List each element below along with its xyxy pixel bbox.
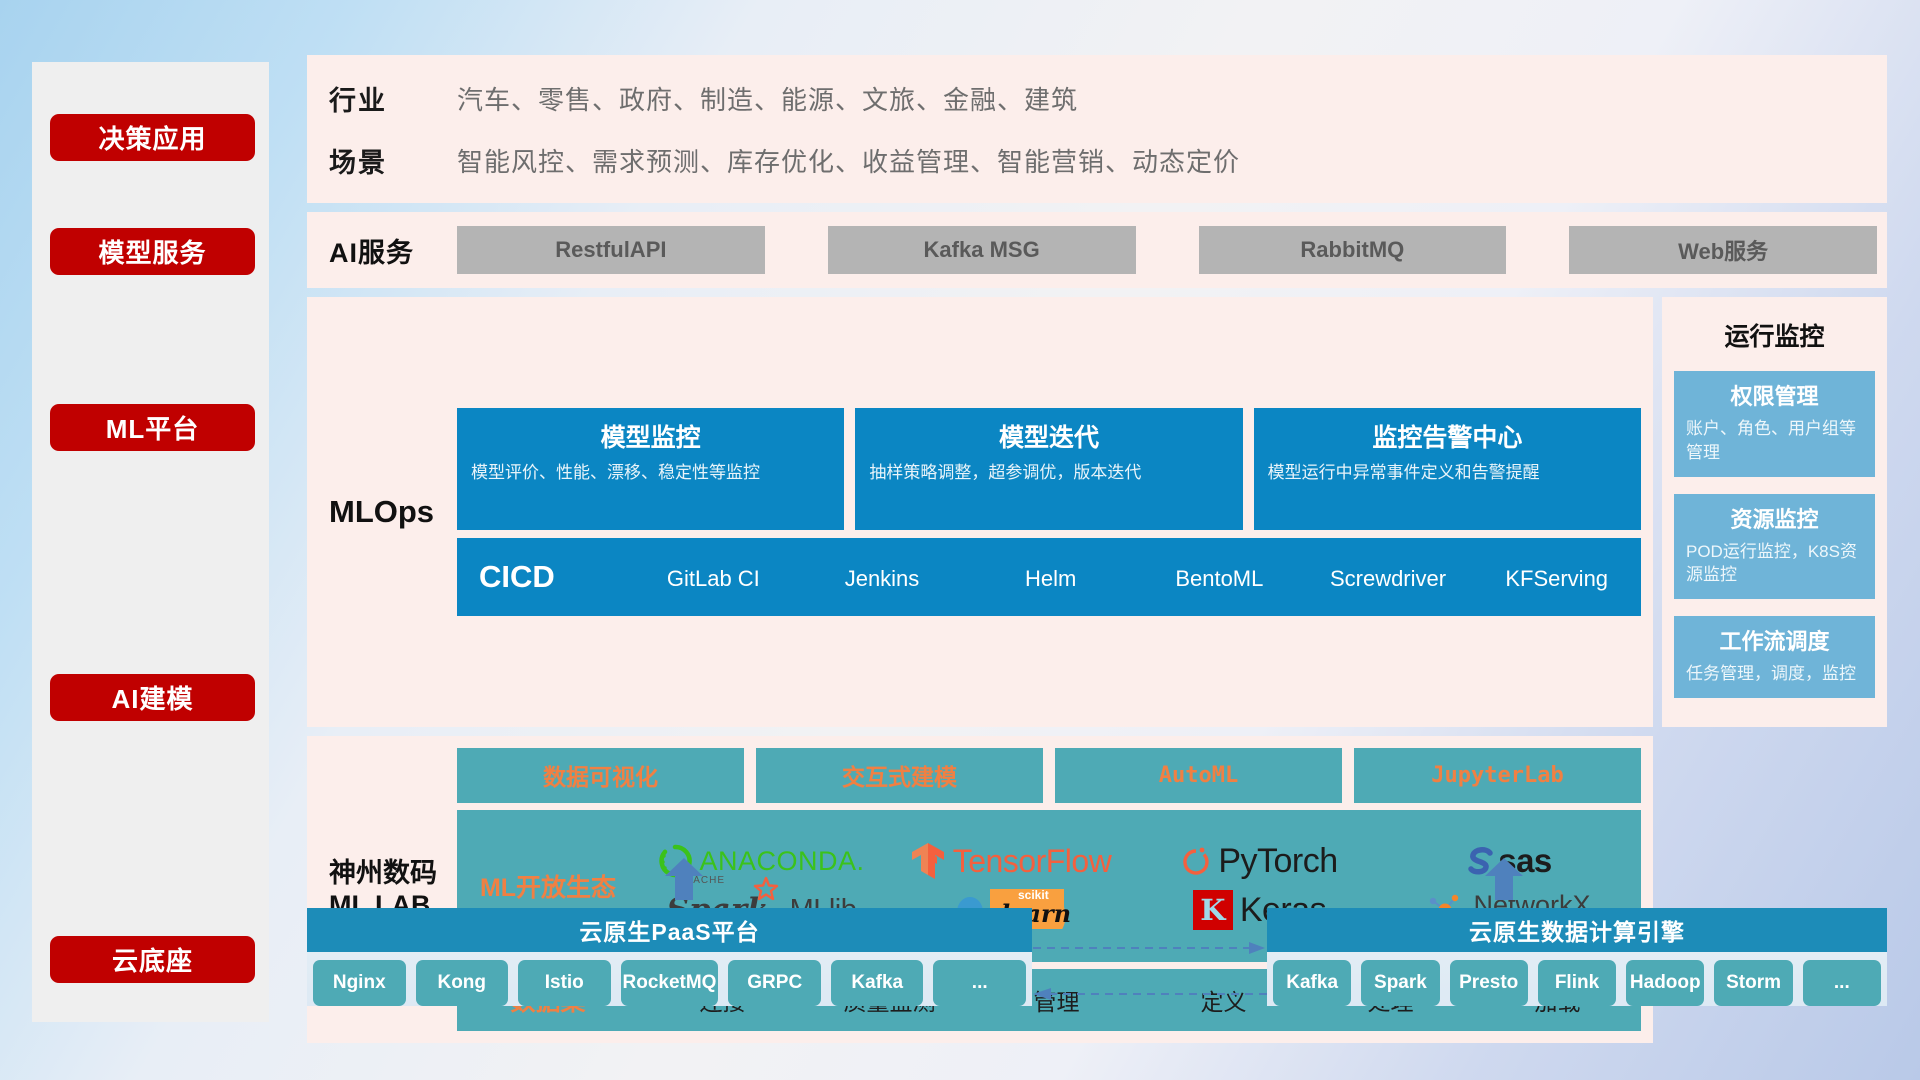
ai-service-label: AI服务 <box>329 231 457 270</box>
cloud-base-row: 云原生PaaS平台 Nginx Kong Istio RocketMQ GRPC… <box>307 880 1887 1030</box>
left-rail: 决策应用 模型服务 ML平台 AI建模 云底座 <box>32 62 269 1022</box>
card-desc: 模型运行中异常事件定义和告警提醒 <box>1268 461 1627 486</box>
pytorch-wordmark: PyTorch <box>1218 842 1337 881</box>
card-title: 资源监控 <box>1686 502 1863 534</box>
card-title: 工作流调度 <box>1686 624 1863 656</box>
scenario-row: 场景 智能风控、需求预测、库存优化、收益管理、智能营销、动态定价 <box>329 129 1240 191</box>
bidirectional-connector-icon <box>1033 938 1267 1006</box>
monitor-card-workflow[interactable]: 工作流调度 任务管理，调度，监控 <box>1674 616 1875 698</box>
cicd-item-bentoml[interactable]: BentoML <box>1135 566 1304 591</box>
tool-tab-interactive-modeling[interactable]: 交互式建模 <box>756 748 1043 803</box>
mlops-card-alert-center[interactable]: 监控告警中心 模型运行中异常事件定义和告警提醒 <box>1254 408 1641 530</box>
mlops-band: MLOps 模型监控 模型评价、性能、漂移、稳定性等监控 模型迭代 抽样策略调整… <box>307 297 1653 727</box>
tensorflow-wordmark: TensorFlow <box>953 843 1112 880</box>
rail-chip-label: 云底座 <box>112 941 193 978</box>
compute-engine-group: 云原生数据计算引擎 Kafka Spark Presto Flink Hadoo… <box>1267 908 1887 1006</box>
ai-service-box-restfulapi[interactable]: RestfulAPI <box>457 226 765 274</box>
mlops-card-model-monitoring[interactable]: 模型监控 模型评价、性能、漂移、稳定性等监控 <box>457 408 844 530</box>
compute-chip-spark[interactable]: Spark <box>1361 960 1439 1006</box>
paas-chip-nginx[interactable]: Nginx <box>313 960 406 1006</box>
compute-up-arrow-icon <box>1485 858 1523 900</box>
rail-chip-model-service[interactable]: 模型服务 <box>50 228 255 275</box>
card-title: 权限管理 <box>1686 379 1863 411</box>
compute-chip-flink[interactable]: Flink <box>1538 960 1616 1006</box>
card-desc: 抽样策略调整，超参调优，版本迭代 <box>869 461 1228 486</box>
paas-chip-list: Nginx Kong Istio RocketMQ GRPC Kafka ... <box>307 952 1032 1006</box>
card-desc: 任务管理，调度，监控 <box>1686 662 1863 686</box>
paas-chip-more[interactable]: ... <box>933 960 1026 1006</box>
cicd-item-screwdriver[interactable]: Screwdriver <box>1304 566 1473 591</box>
ai-service-box-kafka-msg[interactable]: Kafka MSG <box>828 226 1136 274</box>
industry-value: 汽车、零售、政府、制造、能源、文旅、金融、建筑 <box>457 80 1078 117</box>
paas-chip-grpc[interactable]: GRPC <box>728 960 821 1006</box>
rail-chip-label: 决策应用 <box>98 119 206 156</box>
ml-platform-row: MLOps 模型监控 模型评价、性能、漂移、稳定性等监控 模型迭代 抽样策略调整… <box>307 297 1887 727</box>
cicd-item-jenkins[interactable]: Jenkins <box>798 566 967 591</box>
compute-chip-presto[interactable]: Presto <box>1450 960 1528 1006</box>
card-title: 模型迭代 <box>869 418 1228 454</box>
runtime-monitor-column: 运行监控 权限管理 账户、角色、用户组等管理 资源监控 POD运行监控，K8S资… <box>1662 297 1887 727</box>
compute-engine-title: 云原生数据计算引擎 <box>1267 908 1887 952</box>
rail-chip-label: 模型服务 <box>98 233 206 270</box>
rail-chip-ml-platform[interactable]: ML平台 <box>50 404 255 451</box>
pytorch-mark-icon <box>1181 844 1211 878</box>
tool-tab-automl[interactable]: AutoML <box>1055 748 1342 803</box>
monitor-card-permission[interactable]: 权限管理 账户、角色、用户组等管理 <box>1674 371 1875 477</box>
card-desc: POD运行监控，K8S资源监控 <box>1686 540 1863 588</box>
compute-chip-more[interactable]: ... <box>1803 960 1881 1006</box>
tensorflow-logo: TensorFlow <box>910 841 1112 881</box>
card-title: 模型监控 <box>471 418 830 454</box>
tool-tab-data-visualization[interactable]: 数据可视化 <box>457 748 744 803</box>
mlops-card-model-iteration[interactable]: 模型迭代 抽样策略调整，超参调优，版本迭代 <box>855 408 1242 530</box>
rail-chip-ai-modeling[interactable]: AI建模 <box>50 674 255 721</box>
industry-row: 行业 汽车、零售、政府、制造、能源、文旅、金融、建筑 <box>329 67 1240 129</box>
paas-chip-kong[interactable]: Kong <box>416 960 509 1006</box>
pytorch-logo: PyTorch <box>1181 842 1337 881</box>
ai-service-box-web[interactable]: Web服务 <box>1569 226 1877 274</box>
rail-chip-label: ML平台 <box>106 409 200 446</box>
cicd-bar: CICD GitLab CI Jenkins Helm BentoML Scre… <box>457 538 1641 616</box>
ai-service-box-list: RestfulAPI Kafka MSG RabbitMQ Web服务 <box>457 226 1887 274</box>
scenario-value: 智能风控、需求预测、库存优化、收益管理、智能营销、动态定价 <box>457 142 1240 179</box>
compute-chip-storm[interactable]: Storm <box>1714 960 1792 1006</box>
mlops-content: 模型监控 模型评价、性能、漂移、稳定性等监控 模型迭代 抽样策略调整，超参调优，… <box>457 408 1641 616</box>
rail-chip-decision[interactable]: 决策应用 <box>50 114 255 161</box>
mlops-label: MLOps <box>329 494 457 530</box>
rail-chip-cloud-base[interactable]: 云底座 <box>50 936 255 983</box>
scenario-label: 场景 <box>329 141 457 180</box>
card-title: 监控告警中心 <box>1268 418 1627 454</box>
tool-tab-jupyterlab[interactable]: JupyterLab <box>1354 748 1641 803</box>
paas-chip-kafka[interactable]: Kafka <box>831 960 924 1006</box>
tensorflow-mark-icon <box>910 841 946 881</box>
paas-title: 云原生PaaS平台 <box>307 908 1032 952</box>
card-desc: 账户、角色、用户组等管理 <box>1686 417 1863 465</box>
anaconda-wordmark: ANACONDA. <box>699 846 864 877</box>
tool-tab-list: 数据可视化 交互式建模 AutoML JupyterLab <box>457 748 1641 803</box>
rail-chip-label: AI建模 <box>111 679 193 716</box>
paas-group: 云原生PaaS平台 Nginx Kong Istio RocketMQ GRPC… <box>307 908 1032 1006</box>
cicd-item-list: GitLab CI Jenkins Helm BentoML Screwdriv… <box>629 562 1641 591</box>
compute-chip-hadoop[interactable]: Hadoop <box>1626 960 1704 1006</box>
cicd-item-helm[interactable]: Helm <box>966 566 1135 591</box>
paas-chip-rocketmq[interactable]: RocketMQ <box>621 960 719 1006</box>
runtime-monitor-title: 运行监控 <box>1674 317 1875 353</box>
industry-label: 行业 <box>329 79 457 118</box>
monitor-card-resource[interactable]: 资源监控 POD运行监控，K8S资源监控 <box>1674 494 1875 600</box>
ai-service-box-rabbitmq[interactable]: RabbitMQ <box>1199 226 1507 274</box>
mlops-card-list: 模型监控 模型评价、性能、漂移、稳定性等监控 模型迭代 抽样策略调整，超参调优，… <box>457 408 1641 530</box>
cicd-item-kfserving[interactable]: KFServing <box>1472 566 1641 591</box>
ai-service-band: AI服务 RestfulAPI Kafka MSG RabbitMQ Web服务 <box>307 212 1887 288</box>
cicd-label: CICD <box>479 559 629 595</box>
paas-chip-istio[interactable]: Istio <box>518 960 611 1006</box>
compute-chip-kafka[interactable]: Kafka <box>1273 960 1351 1006</box>
cicd-item-gitlab-ci[interactable]: GitLab CI <box>629 566 798 591</box>
card-desc: 模型评价、性能、漂移、稳定性等监控 <box>471 461 830 486</box>
paas-up-arrow-icon <box>665 858 703 900</box>
compute-chip-list: Kafka Spark Presto Flink Hadoop Storm ..… <box>1267 952 1887 1006</box>
decision-application-band: 行业 汽车、零售、政府、制造、能源、文旅、金融、建筑 场景 智能风控、需求预测、… <box>307 55 1887 203</box>
